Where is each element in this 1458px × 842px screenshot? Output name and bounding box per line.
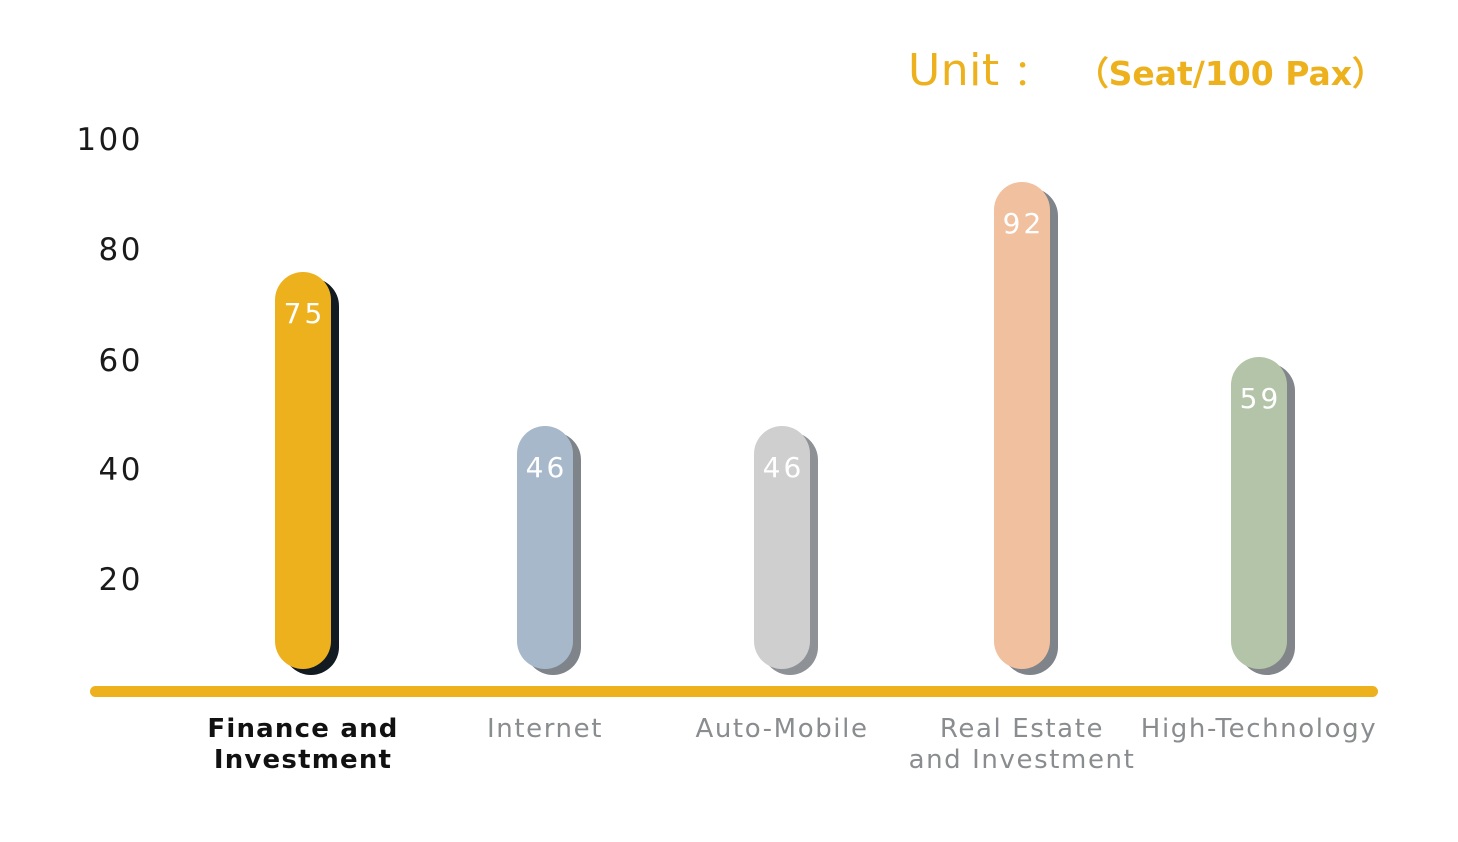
category-label-auto-mobile: Auto-Mobile	[652, 714, 912, 745]
bar-chart: 100 80 60 40 20 75 46 46 92	[0, 0, 1458, 842]
y-axis-tick-100: 100	[33, 122, 143, 158]
bar-body-0[interactable]	[275, 272, 331, 669]
category-label-high-technology: High-Technology	[1129, 714, 1389, 745]
x-axis-baseline	[90, 686, 1378, 697]
bar-value-2: 46	[754, 451, 810, 484]
category-label-finance-and-investment: Finance and Investment	[173, 714, 433, 776]
bar-value-4: 59	[1231, 382, 1287, 415]
category-label-real-estate: Real Estate and Investment	[892, 714, 1152, 776]
y-axis-tick-40: 40	[33, 452, 143, 488]
bar-value-1: 46	[517, 451, 573, 484]
y-axis-tick-20: 20	[33, 562, 143, 598]
bar-value-0: 75	[275, 297, 331, 330]
bar-body-3[interactable]	[994, 182, 1050, 669]
y-axis-tick-60: 60	[33, 343, 143, 379]
y-axis-tick-80: 80	[33, 232, 143, 268]
bar-value-3: 92	[994, 207, 1050, 240]
category-label-internet: Internet	[415, 714, 675, 745]
